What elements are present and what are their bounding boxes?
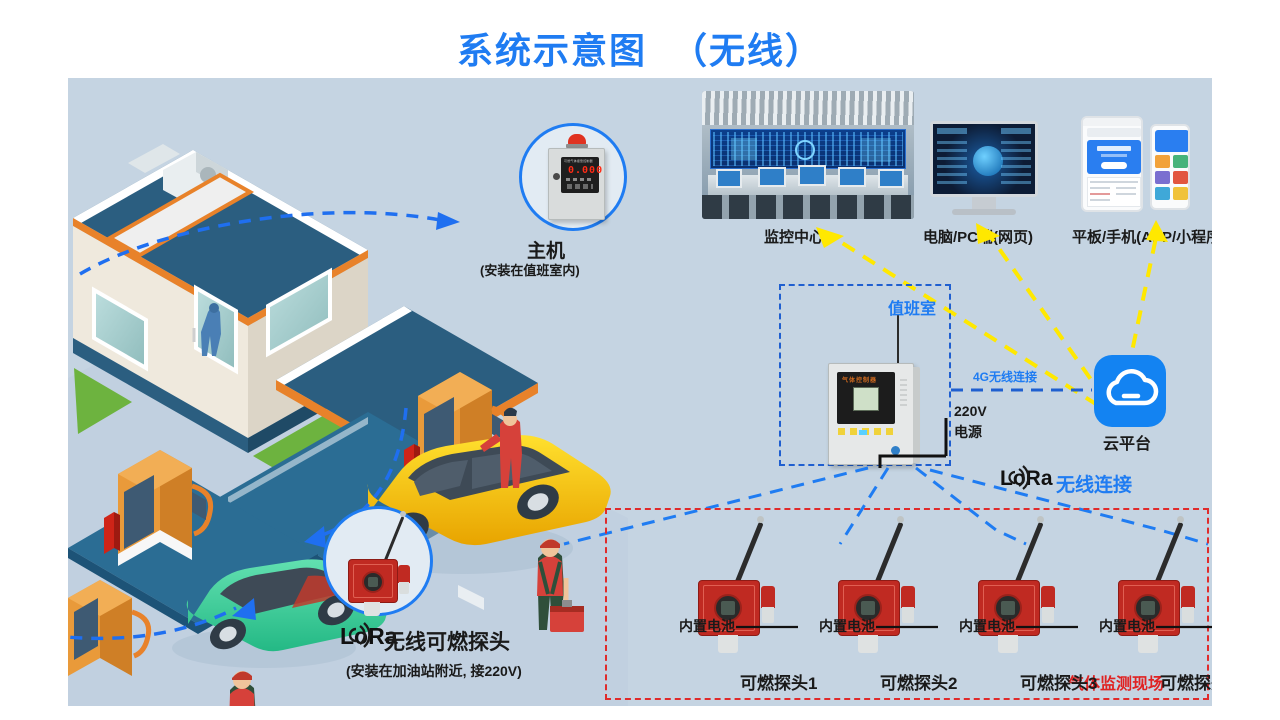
detector-2-label: 可燃探头2	[880, 669, 957, 694]
diagram-canvas: 可燃气体报警控制器 0.000 主机 (安装在值班室内) LoRa	[68, 78, 1212, 706]
detector-3-antenna-tip	[1037, 516, 1044, 523]
detector-n-battery-label: 内置电池	[1099, 616, 1155, 636]
detector-n-battery-leader	[1156, 624, 1212, 630]
detector-2-battery-label: 内置电池	[819, 616, 875, 636]
detector-2-horn-base	[902, 607, 914, 623]
detector-3-antenna	[1014, 522, 1043, 585]
detector-1-battery-leader	[736, 624, 816, 630]
detector-n	[1096, 518, 1212, 668]
detector-3-battery-leader	[1016, 624, 1096, 630]
detector-n-horn-base	[1182, 607, 1194, 623]
detector-1-alarm-horn	[761, 586, 775, 608]
detector-2	[816, 518, 936, 668]
detector-2-battery-leader	[876, 624, 956, 630]
detector-2-alarm-horn	[901, 586, 915, 608]
detector-1-gas-inlet	[718, 635, 738, 653]
detector-3-gas-inlet	[998, 635, 1018, 653]
detector-3-horn-base	[1042, 607, 1054, 623]
detector-3-battery-label: 内置电池	[959, 616, 1015, 636]
detector-1-battery-label: 内置电池	[679, 616, 735, 636]
detector-n-label: 可燃探头N	[1160, 669, 1212, 694]
detector-3-label: 可燃探头3	[1020, 669, 1097, 694]
detector-1-antenna	[734, 522, 763, 585]
detector-3-alarm-horn	[1041, 586, 1055, 608]
detector-n-antenna	[1154, 522, 1183, 585]
detector-1-horn-base	[762, 607, 774, 623]
detector-n-alarm-horn	[1181, 586, 1195, 608]
detector-n-antenna-tip	[1177, 516, 1184, 523]
detector-2-antenna	[874, 522, 903, 585]
detector-n-gas-inlet	[1138, 635, 1158, 653]
detector-1-label: 可燃探头1	[740, 669, 817, 694]
detector-1	[676, 518, 796, 668]
detector-1-antenna-tip	[757, 516, 764, 523]
detector-2-gas-inlet	[858, 635, 878, 653]
page-title: 系统示意图 （无线）	[0, 22, 1280, 74]
detector-2-antenna-tip	[897, 516, 904, 523]
detector-3	[956, 518, 1076, 668]
diagram-root: 系统示意图 （无线）	[0, 0, 1280, 720]
